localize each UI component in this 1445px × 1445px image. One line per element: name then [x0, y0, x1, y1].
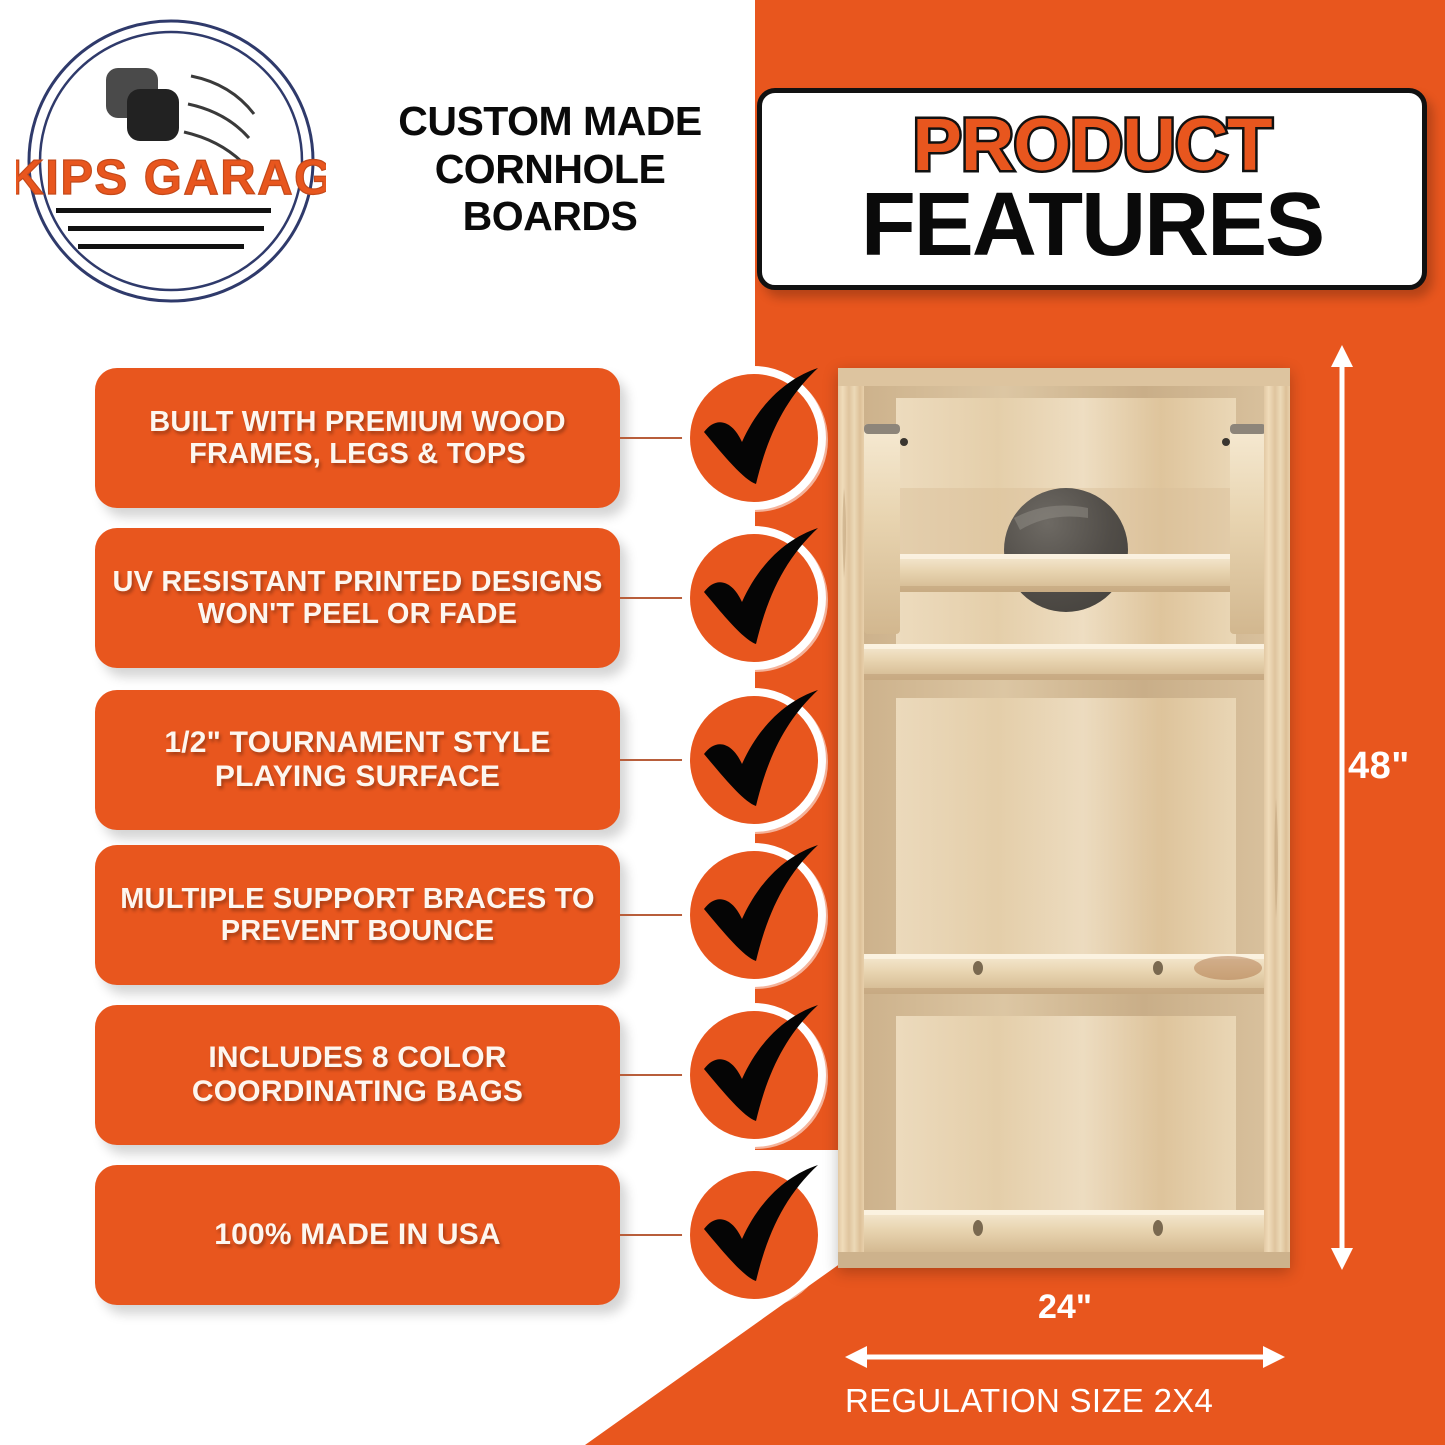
feature-label: 1/2" TOURNAMENT STYLE PLAYING SURFACE: [111, 726, 604, 793]
regulation-size-caption: REGULATION SIZE 2X4: [845, 1382, 1315, 1420]
feature-pill: UV RESISTANT PRINTED DESIGNS WON'T PEEL …: [95, 528, 620, 668]
feature-item-6: 100% MADE IN USA: [0, 1165, 840, 1305]
feature-label: INCLUDES 8 COLOR COORDINATING BAGS: [111, 1041, 604, 1108]
check-circle-icon: [676, 1155, 836, 1315]
feature-pill: INCLUDES 8 COLOR COORDINATING BAGS: [95, 1005, 620, 1145]
height-dimension-arrow: [1320, 345, 1364, 1270]
check-circle-icon: [676, 518, 836, 678]
feature-label: 100% MADE IN USA: [214, 1218, 501, 1252]
feature-label: UV RESISTANT PRINTED DESIGNS WON'T PEEL …: [111, 566, 604, 631]
logo-wordmark: SKIPS GARAGE: [16, 151, 326, 205]
feature-pill: MULTIPLE SUPPORT BRACES TO PREVENT BOUNC…: [95, 845, 620, 985]
headline-line-1: CUSTOM MADE: [350, 98, 750, 146]
width-dimension-label: 24": [845, 1288, 1285, 1327]
banner-word-features: FEATURES: [861, 182, 1323, 268]
check-circle-icon: [676, 358, 836, 518]
infographic-page: SKIPS GARAGE CUSTOM MADE CORNHOLE BOARDS…: [0, 0, 1445, 1445]
headline-line-2: CORNHOLE: [350, 146, 750, 194]
feature-pill: 100% MADE IN USA: [95, 1165, 620, 1305]
check-circle-icon: [676, 680, 836, 840]
check-circle-icon: [676, 835, 836, 995]
width-dimension-arrow: [845, 1345, 1285, 1369]
brand-logo: SKIPS GARAGE: [16, 16, 326, 306]
headline-line-3: BOARDS: [350, 193, 750, 241]
feature-item-4: MULTIPLE SUPPORT BRACES TO PREVENT BOUNC…: [0, 845, 840, 985]
page-title: CUSTOM MADE CORNHOLE BOARDS: [350, 98, 750, 241]
feature-item-5: INCLUDES 8 COLOR COORDINATING BAGS: [0, 1005, 840, 1145]
check-circle-icon: [676, 995, 836, 1155]
feature-item-3: 1/2" TOURNAMENT STYLE PLAYING SURFACE: [0, 690, 840, 830]
height-dimension-label: 48": [1348, 745, 1410, 788]
feature-item-1: BUILT WITH PREMIUM WOOD FRAMES, LEGS & T…: [0, 368, 840, 508]
cornhole-board-photo: [838, 368, 1290, 1268]
feature-item-2: UV RESISTANT PRINTED DESIGNS WON'T PEEL …: [0, 528, 840, 668]
feature-label: MULTIPLE SUPPORT BRACES TO PREVENT BOUNC…: [111, 883, 604, 948]
feature-pill: BUILT WITH PREMIUM WOOD FRAMES, LEGS & T…: [95, 368, 620, 508]
banner-word-product: PRODUCT: [913, 109, 1272, 180]
product-features-banner: PRODUCT FEATURES: [757, 88, 1427, 290]
feature-pill: 1/2" TOURNAMENT STYLE PLAYING SURFACE: [95, 690, 620, 830]
feature-label: BUILT WITH PREMIUM WOOD FRAMES, LEGS & T…: [111, 406, 604, 471]
